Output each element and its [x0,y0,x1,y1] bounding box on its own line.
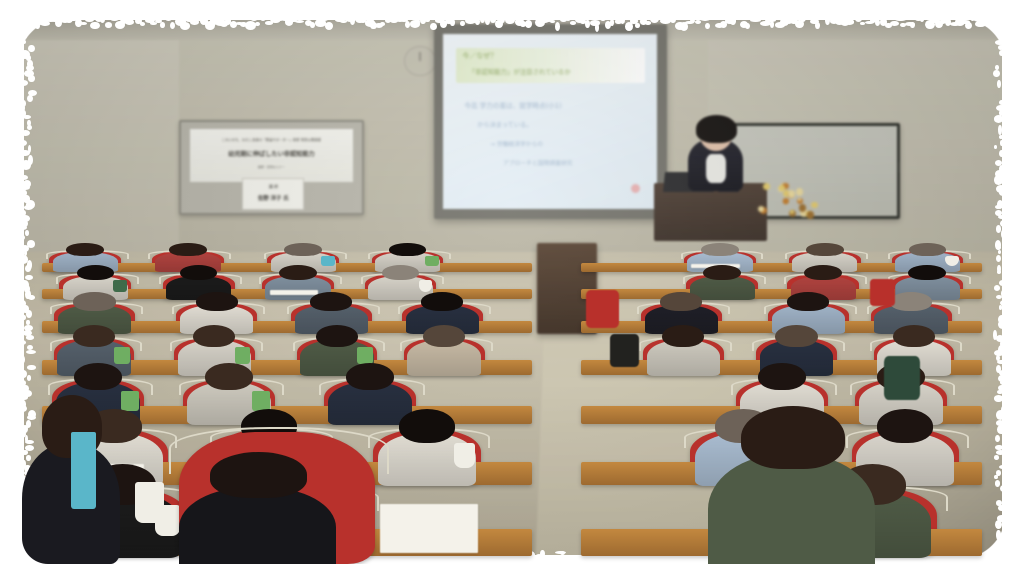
audience-head [775,325,817,348]
border-speckle [23,0,30,7]
border-speckle [1002,85,1006,89]
screenshot-root: このいのち、わたし自身の「発達サポーター」研修 特別公開講座 幼児期に伸ばしたい… [0,0,1024,577]
flower-petal [807,211,815,219]
audience-head [804,265,842,281]
water-bottle [252,391,270,411]
audience-head [382,265,420,281]
border-speckle [1002,235,1011,239]
flower-petal [779,185,785,191]
slide-body-line-2: から決まっている。 [477,120,532,129]
border-speckle [0,554,7,562]
border-speckle [21,5,29,15]
handout-paper [270,290,319,295]
name-card-name: 佐野 洋子 氏 [243,194,303,202]
audience-head [73,325,115,348]
water-bottle [114,347,130,364]
border-speckle [1001,0,1005,6]
audience-head [758,363,806,391]
projection-screen: 今／なぜ？ 「非認知能力」が注目されているか 今迄 学力の差は、就学時点(小1)… [434,24,667,219]
border-speckle [1001,35,1010,41]
water-bottle [121,391,139,411]
border-speckle [1010,17,1018,23]
audience-head [74,363,122,391]
left-whiteboard: このいのち、わたし自身の「発達サポーター」研修 特別公開講座 幼児期に伸ばしたい… [179,120,364,214]
audience-head [890,292,932,311]
board-title-line-2: 幼児期に伸ばしたい非認知能力 [190,149,353,158]
flower-petal [783,198,789,204]
audience-head [310,292,352,311]
foreground-audience-head [741,406,844,469]
border-speckle [1005,15,1009,24]
board-title-line-1: このいのち、わたし自身の「発達サポーター」研修 特別公開講座 [190,137,353,142]
border-speckle [1002,130,1008,136]
border-speckle [1002,195,1010,200]
border-speckle [1003,570,1006,577]
audience-head [660,292,702,311]
audience-head [389,243,427,256]
audience-head [279,265,317,281]
border-speckle [1003,275,1011,284]
border-speckle [1002,155,1010,159]
border-speckle [1002,415,1006,420]
border-speckle [1020,552,1024,555]
border-speckle [21,565,29,570]
paper-cup [135,482,164,523]
podium [654,183,767,241]
speaker-hair [696,115,737,142]
board-title-line-3: 講師・定例セミナー [190,165,353,169]
border-speckle [1015,559,1019,563]
foreground-audience-member [179,487,336,564]
border-speckle [5,16,11,20]
shoulder-bag [884,356,919,400]
audience-head [908,265,946,281]
backpack [610,334,639,367]
audience-head [423,325,465,348]
border-speckle [1003,180,1006,186]
seminar-photograph: このいのち、わたし自身の「発達サポーター」研修 特別公開講座 幼児期に伸ばしたい… [22,16,1002,564]
audience-head [77,265,115,281]
audience-head [284,243,322,256]
water-bottle [425,256,439,266]
audience-head [346,363,394,391]
border-speckle [23,570,27,577]
audience-head [205,363,253,391]
water-bottle [357,347,373,364]
border-left [0,0,24,577]
audience-head [196,292,238,311]
audience-head [877,409,933,443]
thermos [113,280,127,292]
border-speckle [1003,430,1010,435]
audience-head [421,292,463,311]
border-speckle [1003,95,1008,101]
flower-petal [788,190,795,197]
border-speckle [1003,30,1011,36]
tote-bag [586,290,619,328]
audience-head [909,243,947,256]
border-speckle [1003,260,1010,267]
flower-petal [796,188,804,196]
slide-body-line-3: → 労働経済学からの [490,139,543,148]
water-bottle [71,432,96,509]
border-speckle [1000,565,1006,574]
slide-body-line-1: 今迄 学力の差は、就学時点(小1) [464,100,561,110]
whiteboard-mount-knob [898,162,900,173]
border-speckle [1004,25,1013,33]
handout-paper [380,504,478,553]
audience-head [806,243,844,256]
audience-head [893,325,935,348]
presenter-name-card: 講 師 佐野 洋子 氏 [242,178,304,210]
border-speckle [1002,120,1005,127]
flower-petal [799,204,807,212]
border-speckle [0,17,6,22]
paper-cup [454,443,475,468]
audience-head [787,292,829,311]
left-wall [22,16,179,268]
flower-petal [811,202,818,209]
audience-head [703,265,741,281]
tote-bag [870,279,895,306]
border-speckle [1003,495,1008,503]
border-speckle [1010,553,1014,562]
border-speckle [1002,560,1009,568]
border-speckle [5,559,14,564]
audience-head [316,325,358,348]
border-speckle [1003,440,1012,446]
border-speckle [1004,510,1011,517]
name-card-role: 講 師 [243,184,303,190]
audience-head [662,325,704,348]
flower-petal [763,183,770,190]
wall-clock-icon [404,46,435,76]
flower-arrangement [757,180,821,218]
audience-head [701,243,739,256]
border-speckle [10,550,17,556]
border-speckle [18,510,22,517]
border-speckle [1002,60,1006,70]
projected-title-sheet: このいのち、わたし自身の「発達サポーター」研修 特別公開講座 幼児期に伸ばしたい… [190,129,353,181]
border-speckle [1003,400,1010,407]
border-speckle [1003,525,1006,534]
water-bottle [235,347,251,364]
audience-head [180,265,218,281]
photo-description: Photograph taken from the back of a Japa… [0,0,1,1]
border-right [1002,0,1024,577]
border-speckle [1004,90,1014,97]
border-speckle [999,5,1006,10]
border-speckle [1002,75,1005,84]
border-speckle [1002,55,1009,63]
slide-header-line-2: 「非認知能力」が注目されているか [469,67,571,76]
border-speckle [1004,460,1009,468]
border-speckle [10,18,16,23]
border-speckle [1003,310,1012,319]
border-speckle [1003,490,1010,499]
audience-head [169,243,207,256]
audience-head [73,292,115,311]
border-speckle [1005,550,1013,558]
slide-body-line-4: アプローチと国際調査研究 [503,158,573,167]
border-speckle [1003,555,1007,560]
audience-head [193,325,235,348]
foreground-audience-member [708,454,875,564]
border-speckle [1002,325,1008,334]
water-bottle [321,256,335,266]
slide-logo-dot [631,184,640,193]
audience-head [66,243,104,256]
audience-head [399,409,455,443]
speaker-shirt [706,154,726,182]
border-speckle [1015,21,1021,29]
border-speckle [1020,17,1024,24]
slide-header-line-1: 今／なぜ？ [462,51,497,61]
slide-surface: 今／なぜ？ 「非認知能力」が注目されているか 今迄 学力の差は、就学時点(小1)… [443,34,658,209]
foreground-audience-head [210,452,307,498]
